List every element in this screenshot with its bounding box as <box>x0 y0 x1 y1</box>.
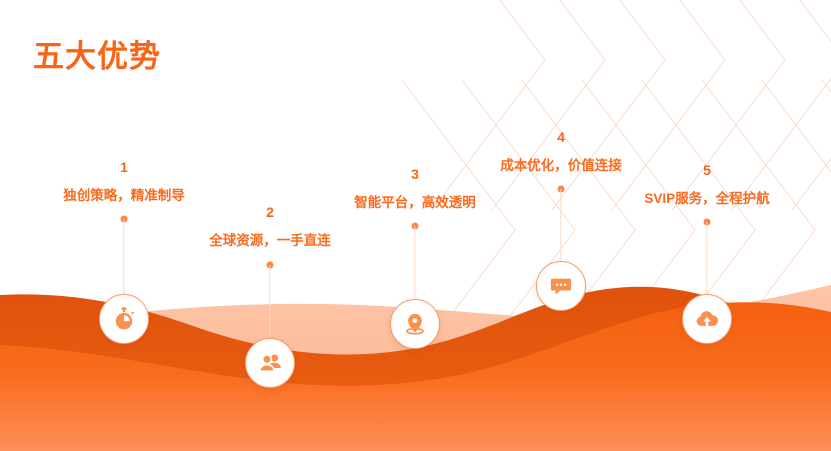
location-pin-icon <box>402 311 428 337</box>
page-title: 五大优势 <box>33 31 161 76</box>
milestone-3-label: 智能平台，高效透明 <box>354 196 476 210</box>
milestone-4-label: 成本优化，价值连接 <box>500 159 622 173</box>
milestone-2-stem <box>269 265 270 339</box>
milestone-4-stem <box>560 189 561 260</box>
milestone-5-number: 5 <box>703 163 711 177</box>
milestone-3-icon-circle[interactable] <box>390 299 440 349</box>
stopwatch-icon <box>111 306 137 332</box>
infographic-canvas: 五大优势 1 独创策略，精准制导 2 全球资源，一手直连 <box>0 0 831 451</box>
users-icon <box>257 350 283 376</box>
milestone-5-icon-circle[interactable] <box>682 294 732 344</box>
milestone-4-number: 4 <box>557 130 565 144</box>
milestone-1-icon-circle[interactable] <box>99 294 149 344</box>
milestone-1-stem <box>123 219 124 297</box>
milestone-3-number: 3 <box>411 167 419 181</box>
milestone-2-icon-circle[interactable] <box>245 338 295 388</box>
cloud-upload-icon <box>694 306 720 332</box>
milestone-2-label: 全球资源，一手直连 <box>209 234 331 248</box>
milestone-5-label: SVIP服务，全程护航 <box>644 192 769 206</box>
milestone-4-icon-circle[interactable] <box>536 261 586 311</box>
milestone-2-number: 2 <box>266 205 274 219</box>
milestone-3-stem <box>414 226 415 299</box>
milestone-1-label: 独创策略，精准制导 <box>63 189 185 203</box>
milestone-5-stem <box>706 222 707 293</box>
milestone-1-number: 1 <box>120 160 128 174</box>
chat-bubble-icon <box>548 273 574 299</box>
